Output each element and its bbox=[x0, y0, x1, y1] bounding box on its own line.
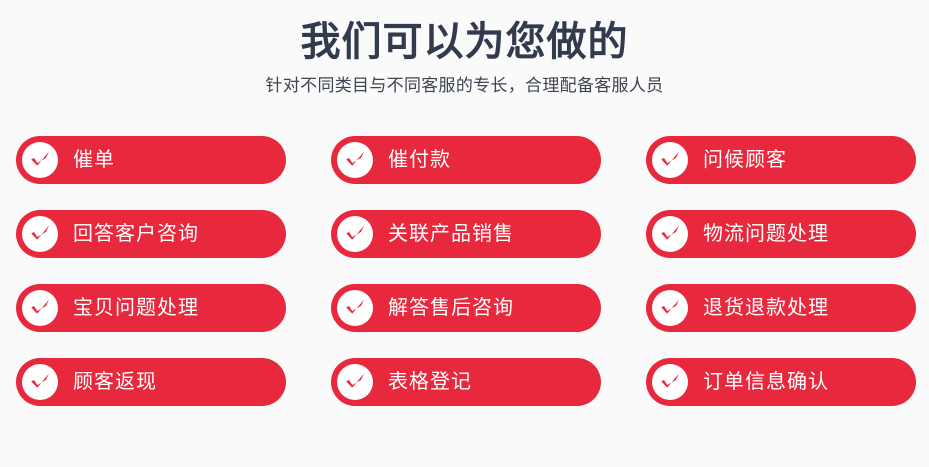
service-item-label: 问候顾客 bbox=[703, 136, 787, 184]
service-item-5[interactable]: 关联产品销售 bbox=[331, 210, 601, 258]
service-item-7[interactable]: 宝贝问题处理 bbox=[16, 284, 286, 332]
check-icon bbox=[22, 290, 58, 326]
service-item-10[interactable]: 顾客返现 bbox=[16, 358, 286, 406]
check-icon bbox=[337, 364, 373, 400]
service-list: 催单 催付款 问候顾客 回答客户咨询 bbox=[16, 136, 916, 406]
service-item-label: 解答售后咨询 bbox=[388, 284, 514, 332]
service-item-3[interactable]: 问候顾客 bbox=[646, 136, 916, 184]
service-item-8[interactable]: 解答售后咨询 bbox=[331, 284, 601, 332]
service-item-label: 退货退款处理 bbox=[703, 284, 829, 332]
service-item-label: 宝贝问题处理 bbox=[73, 284, 199, 332]
service-item-label: 物流问题处理 bbox=[703, 210, 829, 258]
service-item-9[interactable]: 退货退款处理 bbox=[646, 284, 916, 332]
service-item-label: 订单信息确认 bbox=[703, 358, 829, 406]
check-icon bbox=[337, 142, 373, 178]
check-icon bbox=[22, 142, 58, 178]
check-icon bbox=[337, 290, 373, 326]
service-capabilities-page: 我们可以为您做的 针对不同类目与不同客服的专长，合理配备客服人员 催单 催付款 bbox=[0, 0, 929, 467]
page-header: 我们可以为您做的 针对不同类目与不同客服的专长，合理配备客服人员 bbox=[0, 0, 929, 98]
service-item-11[interactable]: 表格登记 bbox=[331, 358, 601, 406]
page-subtitle: 针对不同类目与不同客服的专长，合理配备客服人员 bbox=[0, 74, 929, 98]
service-item-12[interactable]: 订单信息确认 bbox=[646, 358, 916, 406]
check-icon bbox=[652, 364, 688, 400]
check-icon bbox=[337, 216, 373, 252]
check-icon bbox=[22, 364, 58, 400]
check-icon bbox=[22, 216, 58, 252]
service-item-label: 回答客户咨询 bbox=[73, 210, 199, 258]
service-item-label: 表格登记 bbox=[388, 358, 472, 406]
page-title: 我们可以为您做的 bbox=[0, 17, 929, 67]
check-icon bbox=[652, 142, 688, 178]
service-item-6[interactable]: 物流问题处理 bbox=[646, 210, 916, 258]
service-item-label: 催单 bbox=[73, 136, 115, 184]
check-icon bbox=[652, 290, 688, 326]
service-item-4[interactable]: 回答客户咨询 bbox=[16, 210, 286, 258]
service-item-label: 关联产品销售 bbox=[388, 210, 514, 258]
check-icon bbox=[652, 216, 688, 252]
service-item-2[interactable]: 催付款 bbox=[331, 136, 601, 184]
service-item-1[interactable]: 催单 bbox=[16, 136, 286, 184]
service-item-label: 催付款 bbox=[388, 136, 451, 184]
service-item-label: 顾客返现 bbox=[73, 358, 157, 406]
